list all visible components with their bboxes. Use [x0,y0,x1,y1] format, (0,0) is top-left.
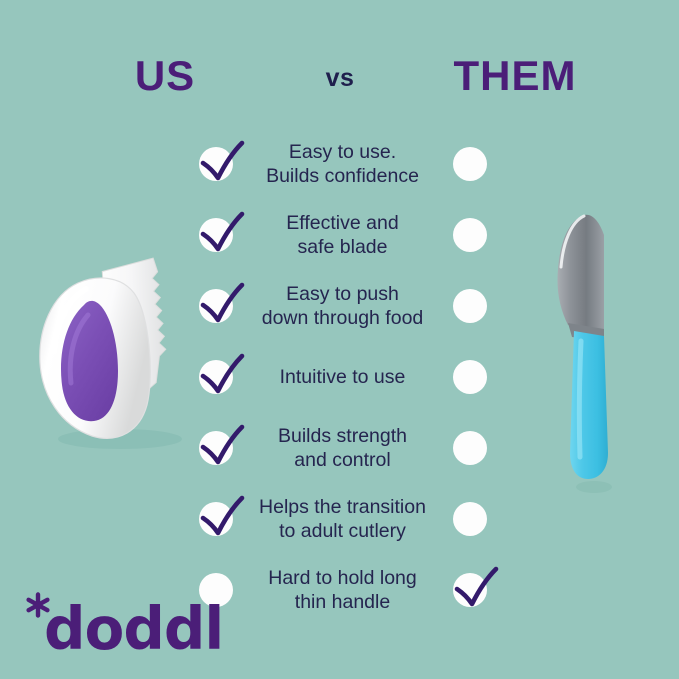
check-icon [195,136,243,184]
us-mark [199,502,233,536]
comparison-row-label: Effective andsafe blade [245,211,440,259]
them-mark [453,502,487,536]
check-icon [449,562,497,610]
them-mark [453,573,487,607]
comparison-row-label: Easy to pushdown through food [245,282,440,330]
them-mark [453,218,487,252]
column-header-them: THEM [350,52,679,100]
us-mark [199,147,233,181]
them-mark [453,360,487,394]
doddl-wordmark: doddl [44,594,223,663]
comparison-infographic: US vs THEM Easy to use.Builds confidence… [0,0,679,679]
them-mark [453,147,487,181]
mark-circle [453,289,487,323]
mark-circle [453,360,487,394]
comparison-row-label: Easy to use.Builds confidence [245,140,440,188]
them-mark [453,431,487,465]
mark-circle [453,147,487,181]
doddl-logo: doddl [20,592,195,660]
doddl-knife-image [34,243,214,458]
mark-circle [453,502,487,536]
comparison-row: Easy to use.Builds confidence [0,128,679,199]
comparison-row-label: Builds strengthand control [245,424,440,472]
them-mark [453,289,487,323]
comparison-row-label: Helps the transitionto adult cutlery [245,495,440,543]
mark-circle [453,431,487,465]
comparison-row-label: Intuitive to use [245,365,440,389]
competitor-knife-image [538,205,638,495]
comparison-row-label: Hard to hold longthin handle [245,566,440,614]
mark-circle [453,218,487,252]
check-icon [195,491,243,539]
